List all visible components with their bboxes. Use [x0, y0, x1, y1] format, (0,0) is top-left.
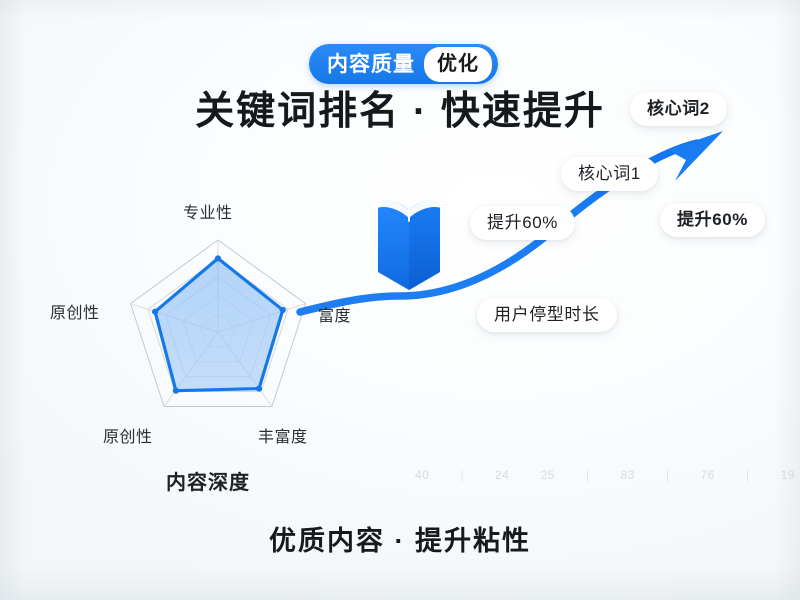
badge-chip-label: 优化 [424, 47, 492, 82]
ruler-tick: | [586, 468, 590, 482]
radar-label-top: 专业性 [183, 199, 233, 223]
badge-main-label: 内容质量 [327, 54, 424, 75]
radar-grid [131, 240, 306, 407]
ruler-item: 40 [415, 468, 429, 482]
quality-badge[interactable]: 内容质量 优化 [309, 44, 498, 84]
ruler-item: 76 [701, 468, 715, 482]
ruler-item: 19 [781, 468, 795, 482]
ruler-item: 83 [620, 468, 634, 482]
poster-canvas: 内容质量 优化 关键词排名 · 快速提升 专业性 富度 丰富度 原创性 原创性 … [0, 0, 800, 600]
content-depth-label: 内容深度 [166, 466, 250, 495]
callout-dwell-time[interactable]: 用户停型时长 [477, 298, 617, 332]
ruler-item: 24 [495, 468, 509, 482]
radar-axes [131, 240, 306, 407]
callout-keyword-2[interactable]: 核心词2 [630, 92, 727, 126]
callout-keyword-1[interactable]: 核心词1 [561, 157, 658, 191]
ruler-tick: | [460, 468, 464, 482]
callout-uplift-left[interactable]: 提升60% [470, 206, 575, 240]
ruler-tick: | [746, 468, 750, 482]
page-subtitle: 优质内容 · 提升粘性 [0, 519, 800, 558]
radar-data-points [152, 255, 286, 394]
ruler-tick: | [666, 468, 670, 482]
callout-uplift-right[interactable]: 提升60% [660, 203, 765, 237]
ruler-item: 25 [540, 468, 554, 482]
radar-label-bottom-left: 原创性 [103, 423, 153, 447]
radar-label-bottom-right: 丰富度 [258, 423, 308, 447]
radar-label-left: 原创性 [50, 299, 100, 323]
faint-ruler: 40 | 24 25 | 83 | 76 | 19 [415, 464, 795, 486]
radar-label-right: 富度 [318, 302, 351, 326]
radar-series-content-depth [155, 258, 283, 390]
